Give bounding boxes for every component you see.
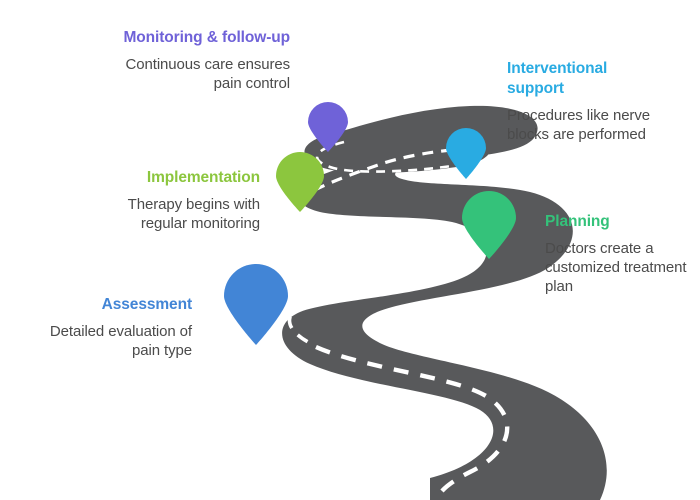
step-description-assessment: Detailed evaluation of pain type [42, 322, 192, 360]
step-title-intervention: Interventional support [507, 59, 667, 99]
step-title-assessment: Assessment [42, 295, 192, 315]
step-description-planning: Doctors create a customized treatment pl… [545, 239, 695, 297]
roadmap-diagram: Monitoring & follow-up Continuous care e… [0, 0, 700, 500]
step-description-intervention: Procedures like nerve blocks are perform… [507, 106, 667, 144]
map-pin-assessment[interactable] [224, 264, 288, 345]
step-description-monitoring: Continuous care ensures pain control [118, 55, 290, 93]
step-block-implementation: Implementation Therapy begins with regul… [108, 168, 260, 233]
step-block-monitoring: Monitoring & follow-up Continuous care e… [118, 28, 290, 93]
step-block-planning: Planning Doctors create a customized tre… [545, 212, 695, 296]
step-block-intervention: Interventional support Procedures like n… [507, 59, 667, 144]
step-title-planning: Planning [545, 212, 695, 232]
step-block-assessment: Assessment Detailed evaluation of pain t… [42, 295, 192, 360]
map-pin-intervention[interactable] [446, 128, 486, 179]
road-path [282, 106, 607, 500]
step-title-monitoring: Monitoring & follow-up [118, 28, 290, 48]
step-title-implementation: Implementation [108, 168, 260, 188]
step-description-implementation: Therapy begins with regular monitoring [108, 195, 260, 233]
